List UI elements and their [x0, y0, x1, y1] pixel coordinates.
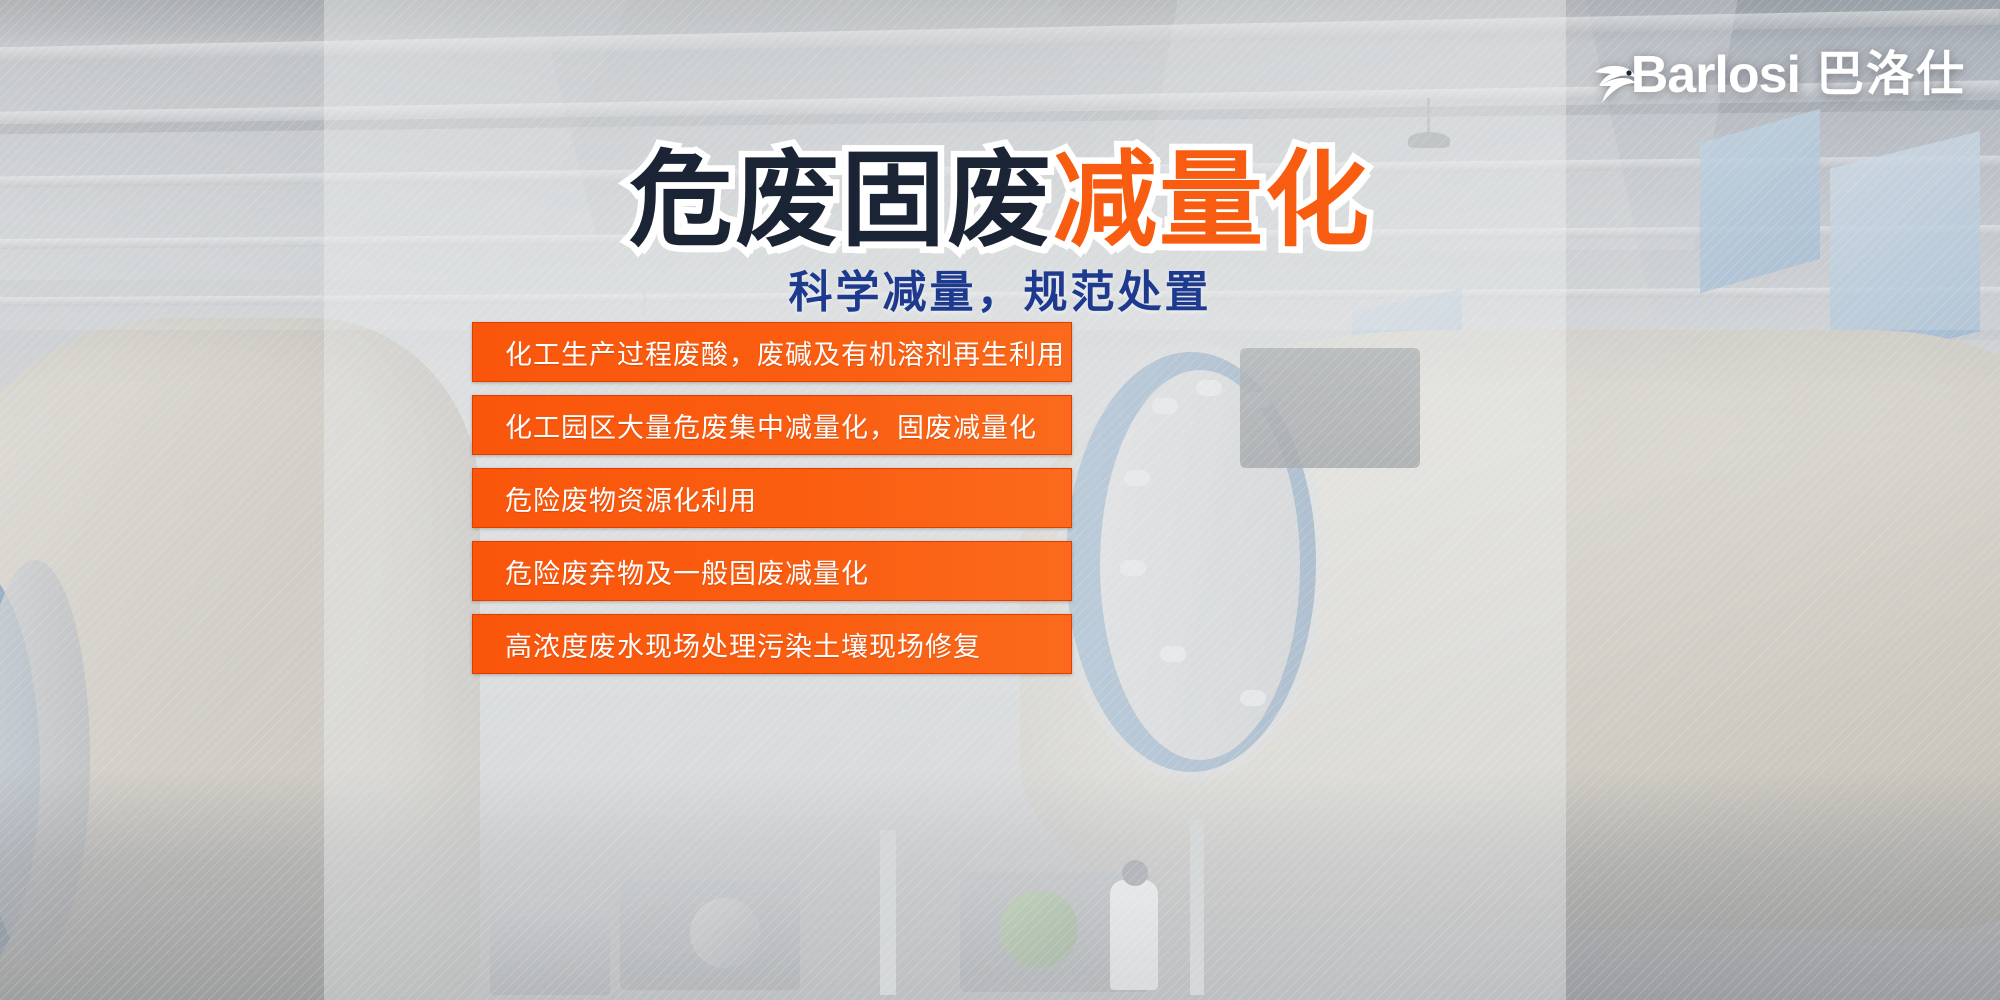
service-bar-list: 化工生产过程废酸，废碱及有机溶剂再生利用 化工园区大量危废集中减量化，固废减量化…	[472, 322, 1072, 674]
brand-logo[interactable]: Barlosi 巴洛仕	[1593, 46, 1966, 104]
brand-name-cn: 巴洛仕	[1816, 51, 1966, 99]
service-bar-label: 化工生产过程废酸，废碱及有机溶剂再生利用	[473, 333, 1065, 372]
brand-name-latin: Barlosi	[1631, 49, 1800, 101]
service-bar-label: 危险废物资源化利用	[473, 479, 757, 518]
title-primary: 危废固废	[629, 143, 1053, 259]
service-bar[interactable]: 化工生产过程废酸，废碱及有机溶剂再生利用	[472, 322, 1072, 382]
service-bar-label: 危险废弃物及一般固废减量化	[473, 552, 869, 591]
service-bar[interactable]: 危险废弃物及一般固废减量化	[472, 541, 1072, 601]
banner-stage: Barlosi 巴洛仕 危废固废减量化 科学减量，规范处置 化工生产过程废酸，废…	[0, 0, 2000, 1000]
service-bar-label: 化工园区大量危废集中减量化，固废减量化	[473, 406, 1037, 445]
page-title: 危废固废减量化	[0, 140, 2000, 263]
service-bar[interactable]: 危险废物资源化利用	[472, 468, 1072, 528]
service-bar-label: 高浓度废水现场处理污染土壤现场修复	[473, 625, 981, 664]
service-bar[interactable]: 高浓度废水现场处理污染土壤现场修复	[472, 614, 1072, 674]
title-accent: 减量化	[1053, 143, 1371, 259]
service-bar[interactable]: 化工园区大量危废集中减量化，固废减量化	[472, 395, 1072, 455]
page-subtitle: 科学减量，规范处置	[0, 256, 2000, 320]
